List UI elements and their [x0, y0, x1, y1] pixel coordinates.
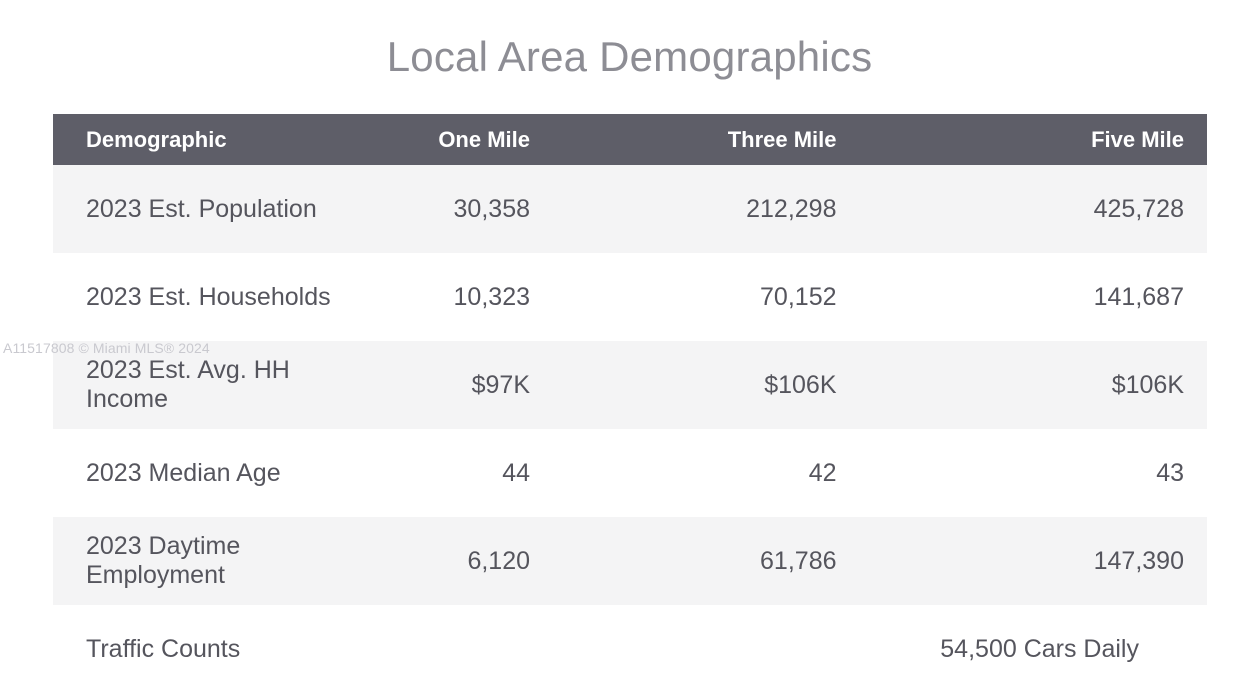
cell-demographic: 2023 Est. Households: [53, 253, 342, 341]
cell-five-mile: 147,390: [919, 517, 1208, 605]
demographics-page: Local Area Demographics Demographic One …: [0, 0, 1259, 696]
cell-three-mile: 70,152: [630, 253, 919, 341]
cell-three-mile: 42: [630, 429, 919, 517]
cell-five-mile: $106K: [919, 341, 1208, 429]
table-row: 2023 Median Age 44 42 43: [53, 429, 1207, 517]
column-header-one-mile: One Mile: [342, 114, 631, 165]
cell-three-mile: 212,298: [630, 165, 919, 253]
table-header-row: Demographic One Mile Three Mile Five Mil…: [53, 114, 1207, 165]
cell-traffic-counts-value: 54,500 Cars Daily: [342, 605, 1208, 693]
cell-five-mile: 425,728: [919, 165, 1208, 253]
cell-five-mile: 43: [919, 429, 1208, 517]
cell-demographic: 2023 Median Age: [53, 429, 342, 517]
column-header-demographic: Demographic: [53, 114, 342, 165]
cell-one-mile: 30,358: [342, 165, 631, 253]
column-header-five-mile: Five Mile: [919, 114, 1208, 165]
table-row: 2023 Daytime Employment 6,120 61,786 147…: [53, 517, 1207, 605]
table-row: 2023 Est. Population 30,358 212,298 425,…: [53, 165, 1207, 253]
cell-one-mile: $97K: [342, 341, 631, 429]
cell-demographic: 2023 Est. Population: [53, 165, 342, 253]
table-row: 2023 Est. Households 10,323 70,152 141,6…: [53, 253, 1207, 341]
cell-demographic: Traffic Counts: [53, 605, 342, 693]
cell-one-mile: 10,323: [342, 253, 631, 341]
table-row: 2023 Est. Avg. HH Income $97K $106K $106…: [53, 341, 1207, 429]
table-header: Demographic One Mile Three Mile Five Mil…: [53, 114, 1207, 165]
cell-three-mile: $106K: [630, 341, 919, 429]
cell-demographic: 2023 Daytime Employment: [53, 517, 342, 605]
cell-demographic: 2023 Est. Avg. HH Income: [53, 341, 342, 429]
local-area-demographics-table: Demographic One Mile Three Mile Five Mil…: [53, 114, 1207, 693]
table-row: Traffic Counts 54,500 Cars Daily: [53, 605, 1207, 693]
cell-three-mile: 61,786: [630, 517, 919, 605]
page-title: Local Area Demographics: [0, 36, 1259, 78]
table-body: 2023 Est. Population 30,358 212,298 425,…: [53, 165, 1207, 693]
cell-one-mile: 6,120: [342, 517, 631, 605]
cell-one-mile: 44: [342, 429, 631, 517]
column-header-three-mile: Three Mile: [630, 114, 919, 165]
cell-five-mile: 141,687: [919, 253, 1208, 341]
